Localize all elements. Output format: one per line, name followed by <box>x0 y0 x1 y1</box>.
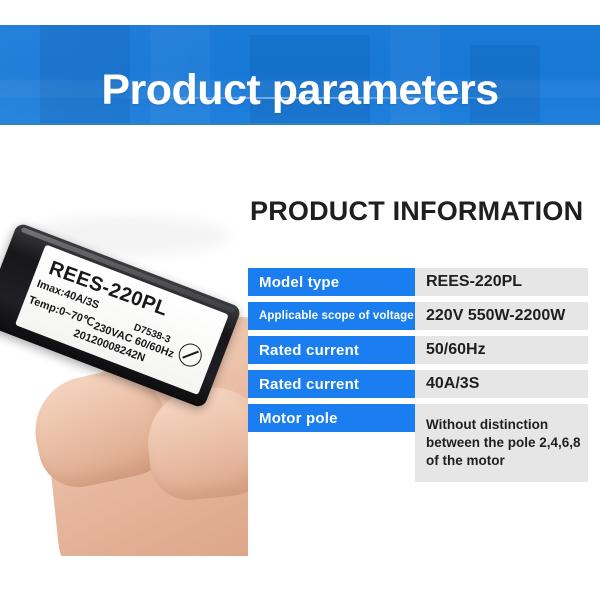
table-row: Motor pole Without distinction between t… <box>248 404 588 482</box>
spec-table: Model type REES-220PL Applicable scope o… <box>248 268 588 488</box>
page-title: Product parameters <box>0 69 600 112</box>
table-row: Rated current 50/60Hz <box>248 336 588 364</box>
spec-label: Model type <box>248 268 415 296</box>
spec-label: Rated current <box>248 370 415 398</box>
spec-value: REES-220PL <box>415 268 588 296</box>
banner-divider <box>0 123 600 125</box>
page-banner: Product parameters <box>0 25 600 125</box>
spec-value: 220V 550W-2200W <box>415 302 588 330</box>
crossed-circle-icon <box>175 340 205 370</box>
table-row: Rated current 40A/3S <box>248 370 588 398</box>
spec-value: Without distinction between the pole 2,4… <box>415 404 588 482</box>
spec-value: 40A/3S <box>415 370 588 398</box>
section-heading: PRODUCT INFORMATION <box>250 198 550 225</box>
product-photo: REES-220PL Imax:40A/3S D7538-3 Temp:0~70… <box>0 126 248 556</box>
table-row: Model type REES-220PL <box>248 268 588 296</box>
spec-value: 50/60Hz <box>415 336 588 364</box>
spec-label: Motor pole <box>248 404 415 432</box>
table-row: Applicable scope of voltage 220V 550W-22… <box>248 302 588 330</box>
spec-label: Applicable scope of voltage <box>248 302 415 330</box>
spec-label: Rated current <box>248 336 415 364</box>
